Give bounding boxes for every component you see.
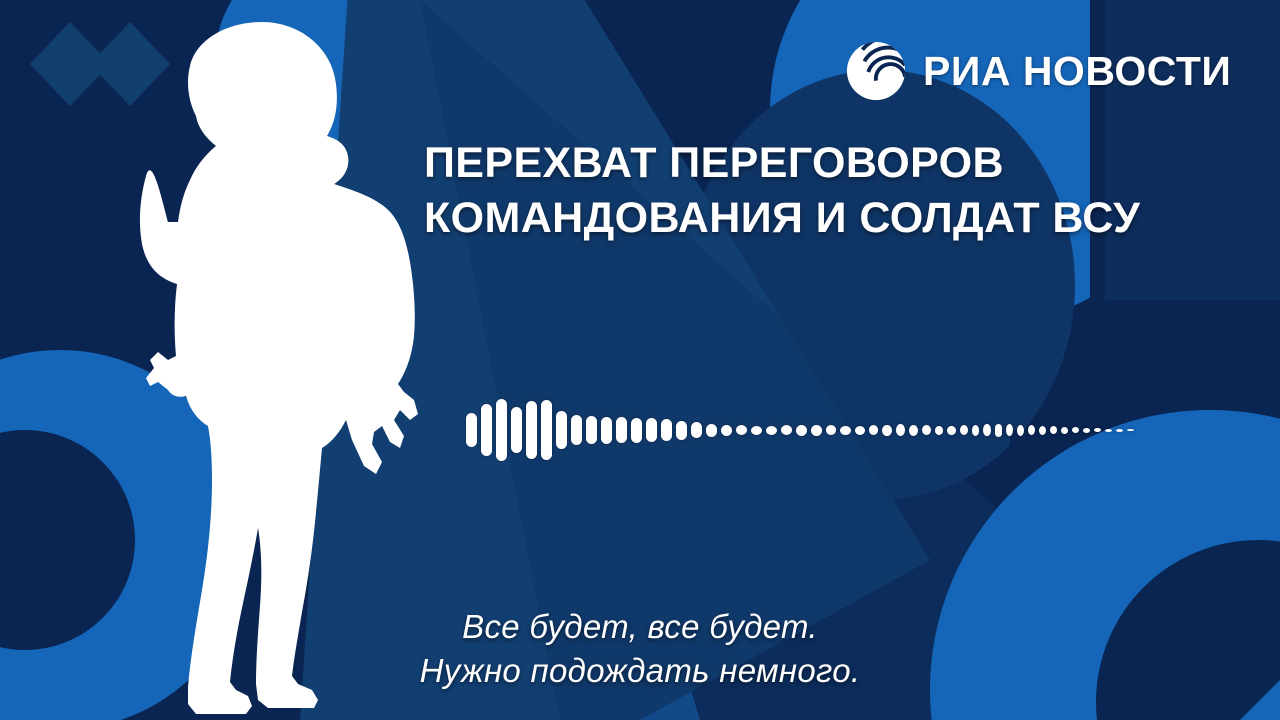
waveform-bar: [496, 399, 507, 461]
waveform-bar: [556, 411, 567, 449]
waveform-bar: [1028, 425, 1035, 435]
waveform-bar: [511, 407, 522, 453]
brand-lockup: РИА НОВОСТИ: [845, 40, 1231, 102]
waveform-bar: [706, 424, 717, 437]
quote-caption: Все будет, все будет. Нужно подождать не…: [0, 605, 1280, 693]
waveform-bar: [983, 424, 991, 436]
audio-waveform-icon: [466, 380, 1166, 480]
waveform-bar: [586, 416, 597, 444]
caption-line-1: Все будет, все будет.: [0, 605, 1280, 649]
waveform-bar: [1006, 424, 1013, 436]
page-title: ПЕРЕХВАТ ПЕРЕГОВОРОВ КОМАНДОВАНИЯ И СОЛД…: [424, 136, 1254, 246]
waveform-bar: [541, 400, 552, 460]
waveform-bar: [1050, 426, 1057, 434]
news-graphic-card: РИА НОВОСТИ ПЕРЕХВАТ ПЕРЕГОВОРОВ КОМАНДО…: [0, 0, 1280, 720]
waveform-bar: [781, 425, 792, 435]
ria-globe-icon: [845, 40, 907, 102]
waveform-bar: [935, 426, 944, 435]
waveform-bar: [751, 426, 762, 435]
headline-line-2: КОМАНДОВАНИЯ И СОЛДАТ ВСУ: [424, 191, 1254, 246]
waveform-bar: [1094, 428, 1101, 432]
waveform-bar: [721, 425, 732, 436]
waveform-bar: [736, 425, 747, 435]
waveform-bar: [571, 415, 582, 445]
waveform-bar: [601, 417, 612, 444]
waveform-bar: [616, 417, 627, 443]
waveform-bar: [646, 418, 657, 442]
waveform-bar: [1072, 427, 1079, 433]
waveform-bar: [896, 424, 905, 436]
waveform-bar: [840, 426, 850, 435]
waveform-bar: [766, 426, 777, 435]
waveform-bar: [1127, 429, 1134, 431]
brand-name: РИА НОВОСТИ: [923, 51, 1231, 92]
waveform-bar: [1083, 428, 1090, 433]
waveform-bar: [960, 425, 968, 435]
waveform-bar: [631, 418, 642, 443]
waveform-bar: [882, 425, 892, 436]
waveform-bar: [995, 424, 1002, 437]
waveform-bar: [661, 419, 672, 441]
waveform-bar: [826, 425, 837, 435]
waveform-bar: [972, 425, 980, 436]
caption-line-2: Нужно подождать немного.: [0, 649, 1280, 693]
waveform-bar: [796, 425, 807, 436]
waveform-bar: [811, 425, 822, 436]
waveform-bar: [676, 421, 687, 440]
waveform-bar: [1116, 429, 1123, 432]
waveform-bar: [869, 425, 879, 435]
waveform-bar: [947, 426, 955, 435]
waveform-bar: [909, 425, 918, 436]
waveform-bar: [855, 426, 865, 435]
waveform-bar: [466, 413, 477, 447]
waveform-bar: [691, 422, 702, 438]
waveform-bar: [1039, 426, 1046, 435]
waveform-bar: [526, 401, 537, 459]
waveform-bar: [1061, 427, 1068, 434]
waveform-bar: [1105, 429, 1112, 432]
waveform-bar: [1017, 425, 1024, 436]
waveform-bar: [922, 425, 931, 435]
headline-line-1: ПЕРЕХВАТ ПЕРЕГОВОРОВ: [424, 136, 1254, 191]
waveform-bar: [481, 404, 492, 456]
